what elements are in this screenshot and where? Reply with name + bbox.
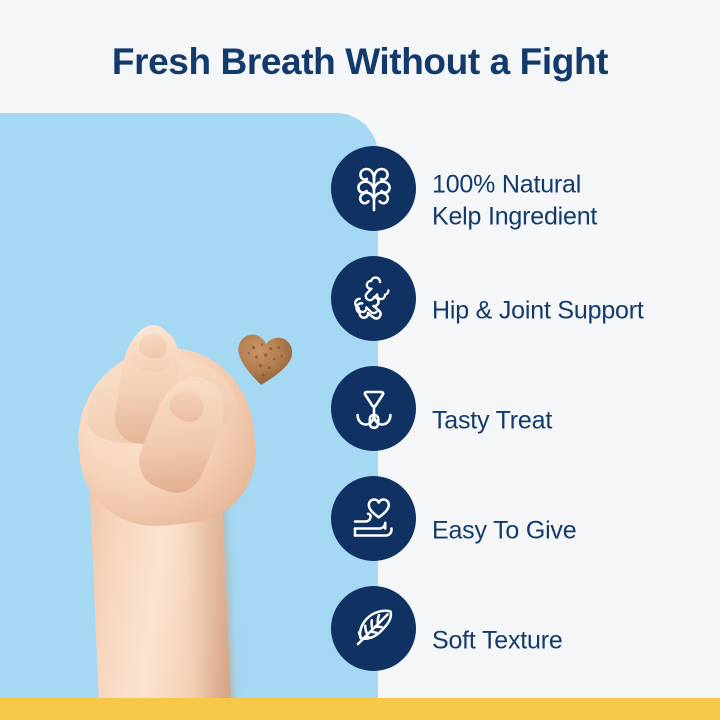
bottom-gold-bar: [0, 698, 720, 720]
product-photo-panel: [0, 113, 378, 700]
feature-label: Hip & Joint Support: [432, 295, 644, 327]
heart-shaped-dog-treat: [233, 332, 295, 390]
feather-icon: [331, 586, 416, 671]
feature-row: Tasty Treat: [331, 366, 711, 476]
feature-label: Soft Texture: [432, 625, 563, 657]
feature-label: 100% Natural Kelp Ingredient: [432, 170, 597, 233]
bone-joint-icon: [331, 256, 416, 341]
infographic-stage: Fresh Breath Without a Fight: [0, 0, 720, 720]
feature-label: Easy To Give: [432, 515, 576, 547]
dog-muzzle-icon: [331, 366, 416, 451]
feature-row: Easy To Give: [331, 476, 711, 586]
feature-label: Tasty Treat: [432, 405, 552, 437]
feature-row: 100% Natural Kelp Ingredient: [331, 146, 711, 256]
feature-row: Soft Texture: [331, 586, 711, 696]
hand-heart-icon: [331, 476, 416, 561]
feature-list: 100% Natural Kelp Ingredient Hip & Joint…: [331, 146, 711, 696]
kelp-leaf-icon: [331, 146, 416, 231]
feature-row: Hip & Joint Support: [331, 256, 711, 366]
page-title: Fresh Breath Without a Fight: [0, 42, 720, 83]
